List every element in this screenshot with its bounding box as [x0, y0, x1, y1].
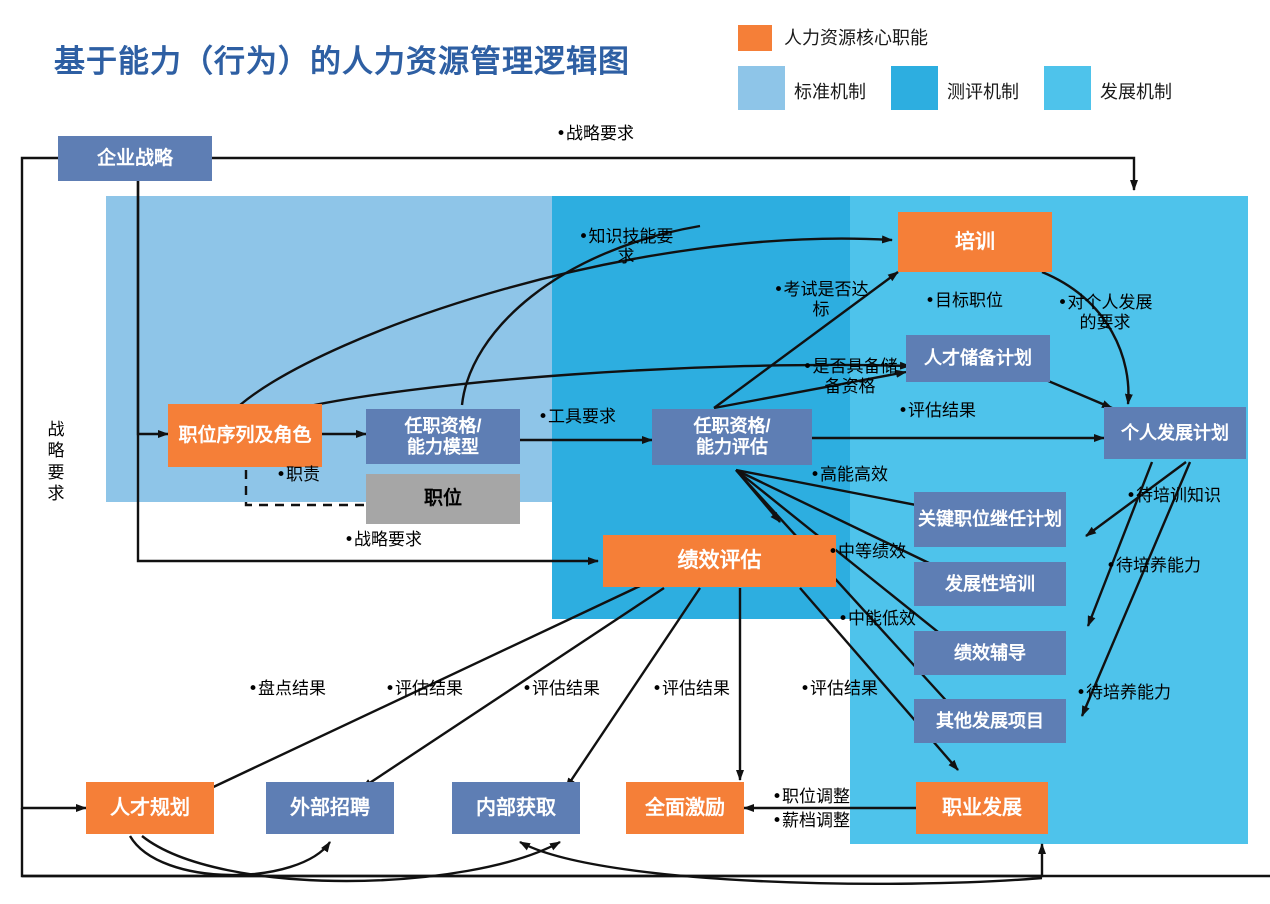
edge-label-knowledge-skill-requirement: •知识技能要 求 [566, 228, 686, 267]
node-training[interactable]: 培训 [898, 212, 1052, 272]
edge-label-assessment-result-3: •评估结果 [652, 680, 730, 700]
edge-label-knowledge-to-train: •待培训知识 [1126, 487, 1221, 507]
edge-label-inventory-result: •盘点结果 [248, 680, 326, 700]
edge-label-target-position: •目标职位 [925, 292, 1003, 312]
node-other-development-programs[interactable]: 其他发展项目 [914, 699, 1066, 743]
edge-label-assessment-result-2: •评估结果 [522, 680, 600, 700]
edge-label-salary-adjustment: •薪档调整 [772, 812, 850, 832]
node-external-recruitment[interactable]: 外部招聘 [266, 782, 394, 834]
node-qualification-competency-assessment[interactable]: 任职资格/ 能力评估 [652, 409, 812, 465]
node-career-development[interactable]: 职业发展 [916, 782, 1048, 834]
edge-label-ability-to-develop-1: •待培养能力 [1106, 557, 1201, 577]
edge-label-assessment-result-4: •评估结果 [800, 680, 878, 700]
legend-label-develop: 发展机制 [1100, 78, 1172, 104]
node-talent-reserve-plan[interactable]: 人才储备计划 [906, 335, 1050, 382]
diagram-canvas: 基于能力（行为）的人力资源管理逻辑图 人力资源核心职能 标准机制 测评机制 发展… [0, 0, 1270, 904]
node-position[interactable]: 职位 [366, 474, 520, 524]
node-qualification-competency-model[interactable]: 任职资格/ 能力模型 [366, 409, 520, 464]
edge-label-strategy-requirement-mid: •战略要求 [344, 531, 422, 551]
node-total-rewards[interactable]: 全面激励 [626, 782, 744, 834]
edge-label-position-adjustment: •职位调整 [772, 788, 850, 808]
legend-swatch-standard [738, 66, 785, 110]
legend-swatch-assess [891, 66, 938, 110]
node-talent-planning[interactable]: 人才规划 [86, 782, 214, 834]
legend-label-core: 人力资源核心职能 [784, 24, 928, 50]
legend-swatch-core [738, 25, 772, 51]
node-performance-assessment[interactable]: 绩效评估 [603, 535, 836, 587]
edge-label-high-performance: •高能高效 [810, 466, 888, 486]
node-performance-coaching[interactable]: 绩效辅导 [914, 631, 1066, 675]
edge-label-ability-to-develop-2: •待培养能力 [1076, 684, 1171, 704]
edge-label-personal-development-requirement: •对个人发展 的要求 [1046, 294, 1164, 333]
edge-label-assessment-result-1: •评估结果 [385, 680, 463, 700]
side-label-strategy-requirement: 战略要求 [42, 420, 70, 505]
edge-label-low-performance: •中能低效 [838, 610, 916, 630]
edge-label-exam-pass: •考试是否达 标 [766, 281, 876, 320]
edge-label-tool-requirement: •工具要求 [538, 408, 616, 428]
edge-label-medium-performance: •中等绩效 [828, 543, 906, 563]
edge-label-assessment-result-right: •评估结果 [898, 402, 976, 422]
edge-label-strategy-requirement-top: •战略要求 [556, 125, 634, 145]
node-job-sequence-and-role[interactable]: 职位序列及角色 [168, 404, 322, 467]
legend-label-assess: 测评机制 [947, 78, 1019, 104]
node-individual-development-plan[interactable]: 个人发展计划 [1104, 407, 1246, 459]
node-internal-acquisition[interactable]: 内部获取 [452, 782, 580, 834]
edge-label-duty: •职责 [276, 466, 320, 486]
edge-label-reserve-qualified: •是否具备储 备资格 [794, 358, 906, 397]
legend-swatch-develop [1044, 66, 1091, 110]
node-developmental-training[interactable]: 发展性培训 [914, 562, 1066, 606]
node-key-position-succession-plan[interactable]: 关键职位继任计划 [914, 492, 1066, 547]
page-title: 基于能力（行为）的人力资源管理逻辑图 [54, 36, 630, 81]
legend-label-standard: 标准机制 [794, 78, 866, 104]
node-corporate-strategy[interactable]: 企业战略 [58, 136, 212, 181]
